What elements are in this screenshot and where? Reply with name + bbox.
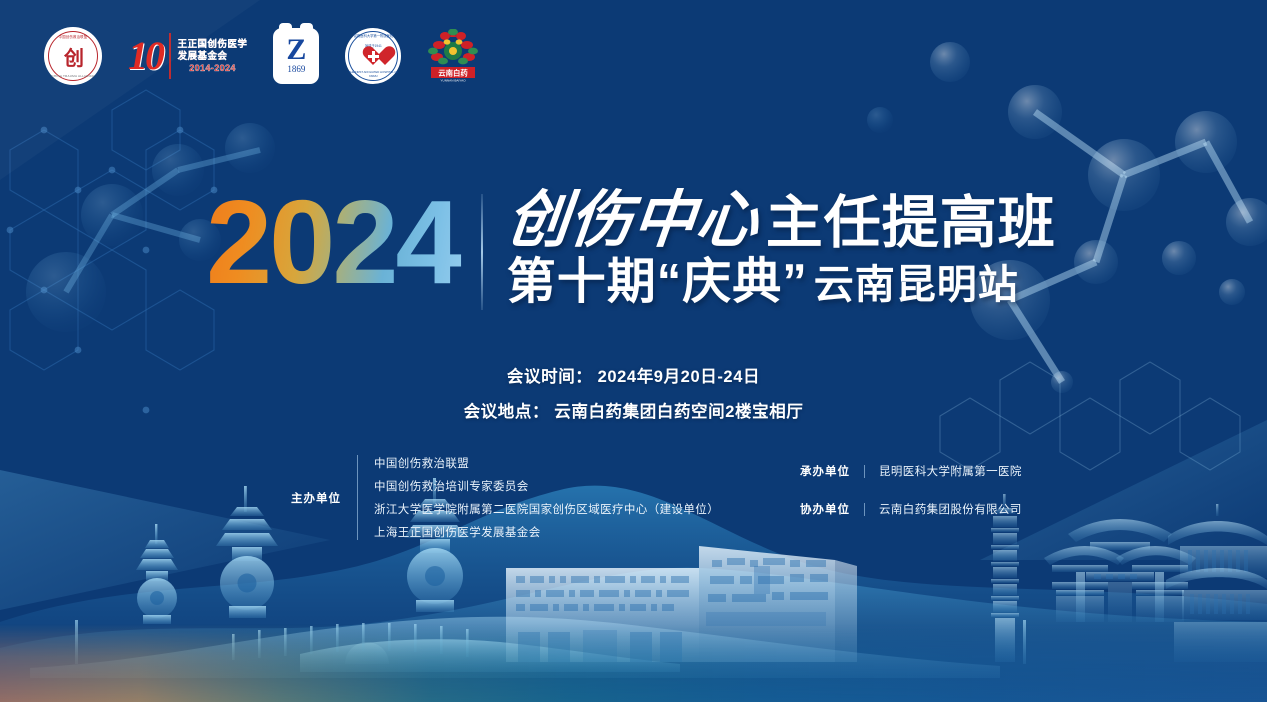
tall-pagoda: [991, 494, 1019, 662]
alliance-logo-mark: 创: [64, 42, 82, 71]
host-item: 上海王正国创伤医学发展基金会: [374, 524, 719, 540]
kmu-logo-bottom-text: THE FIRST AFFILIATED HOSPITAL OF KMMU: [345, 70, 401, 78]
alliance-logo-bottom-text: CHINA TRAUMA ALLIANCE: [49, 74, 97, 78]
title-subtitle-session: 第十期“庆典”: [507, 258, 808, 307]
undertaker-label: 承办单位: [800, 463, 850, 479]
medical-cross-icon: [368, 51, 379, 62]
main-title: 2024 创伤中心 主任提高班 第十期“庆典” 云南昆明站: [206, 186, 1056, 310]
zhejiang-university-second-hospital-logo: Z 1869: [273, 28, 319, 84]
yunnan-baiyao-emblem-icon: 云南白药 YUNNAN BAIYAO: [427, 29, 479, 83]
coorganizer-value: 云南白药集团股份有限公司: [879, 501, 1022, 517]
meeting-location: 会议地点： 云南白药集团白药空间2楼宝相厅: [0, 395, 1267, 430]
host-item: 中国创伤救治联盟: [374, 455, 719, 471]
title-bold-text: 主任提高班: [766, 195, 1056, 252]
title-subtitle-location: 云南昆明站: [814, 263, 1019, 307]
yunnan-baiyao-logo: 云南白药 YUNNAN BAIYAO: [427, 29, 479, 83]
logo-row: 中国创伤救治联盟 创 CHINA TRAUMA ALLIANCE 10 王正国创…: [44, 26, 479, 86]
host-item: 浙江大学医学院附属第二医院国家创伤区域医疗中心（建设单位）: [374, 501, 719, 517]
china-trauma-alliance-logo: 中国创伤救治联盟 创 CHINA TRAUMA ALLIANCE: [44, 27, 102, 85]
foundation-name-line2: 发展基金会: [178, 51, 248, 62]
zju2-logo-letter: Z: [286, 36, 306, 63]
wang-zhengguo-foundation-logo: 10 王正国创伤医学 发展基金会 2014-2024: [128, 26, 247, 86]
host-list: 中国创伤救治联盟 中国创伤救治培训专家委员会 浙江大学医学院附属第二医院国家创伤…: [374, 455, 719, 540]
undertaker-row: 承办单位 昆明医科大学附属第一医院: [800, 463, 1022, 479]
host-label: 主办单位: [291, 490, 341, 506]
coorganizer-label: 协办单位: [800, 501, 850, 517]
conference-banner: 中国创伤救治联盟 创 CHINA TRAUMA ALLIANCE 10 王正国创…: [0, 0, 1267, 702]
host-organizers: 主办单位 中国创伤救治联盟 中国创伤救治培训专家委员会 浙江大学医学院附属第二医…: [291, 455, 719, 540]
center-pagoda: [216, 486, 278, 618]
foundation-years: 2014-2024: [178, 63, 248, 73]
meeting-time: 会议时间： 2024年9月20日-24日: [0, 360, 1267, 395]
undertaker-value: 昆明医科大学附属第一医院: [879, 463, 1022, 479]
baiyao-logo-text: 云南白药: [439, 69, 469, 78]
kunming-medical-university-first-hospital-logo: 昆明医科大学第一附属医院 始建于1941 THE FIRST AFFILIATE…: [345, 28, 401, 84]
coorganizer-divider: [864, 503, 865, 516]
title-divider: [481, 194, 483, 310]
undertaker-divider: [864, 465, 865, 478]
coorganizer-row: 协办单位 云南白药集团股份有限公司: [800, 501, 1022, 517]
foundation-logo-divider: [169, 33, 171, 79]
alliance-logo-top-text: 中国创伤救治联盟: [49, 34, 97, 39]
host-divider: [357, 455, 358, 540]
foundation-anniversary-numeral: 10: [128, 36, 162, 76]
supporting-organizers: 承办单位 昆明医科大学附属第一医院 协办单位 云南白药集团股份有限公司: [800, 463, 1022, 517]
host-item: 中国创伤救治培训专家委员会: [374, 478, 719, 494]
baiyao-logo-subtext: YUNNAN BAIYAO: [441, 79, 467, 83]
foundation-name-line1: 王正国创伤医学: [178, 39, 248, 50]
kmu-logo-top-text: 昆明医科大学第一附属医院: [345, 33, 401, 38]
title-year: 2024: [206, 186, 477, 300]
west-pagoda: [136, 524, 178, 624]
zju2-logo-year: 1869: [287, 64, 305, 74]
title-calligraphy-text: 创伤中心: [503, 190, 762, 252]
meeting-details: 会议时间： 2024年9月20日-24日 会议地点： 云南白药集团白药空间2楼宝…: [0, 360, 1267, 429]
